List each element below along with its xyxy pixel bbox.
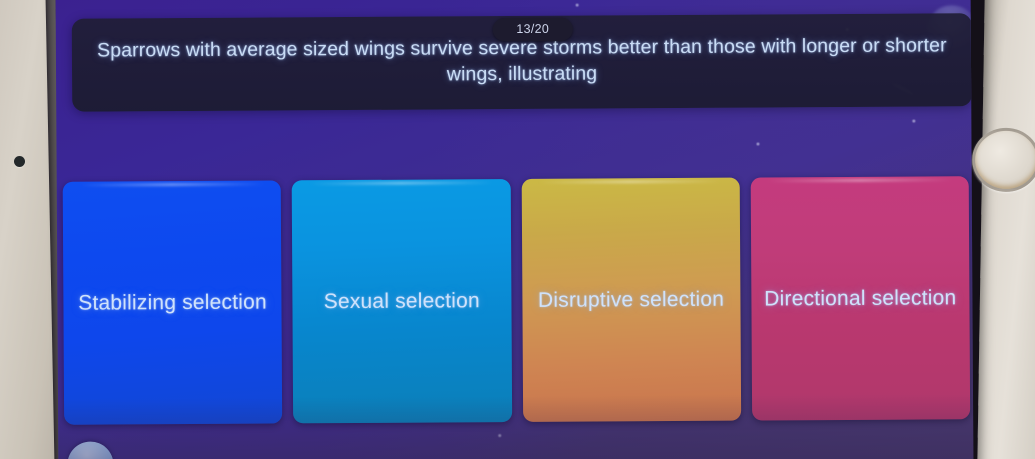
answer-disruptive-selection[interactable]: Disruptive selection bbox=[521, 178, 741, 422]
tablet-screen: Sparrows with average sized wings surviv… bbox=[56, 0, 974, 459]
question-text: Sparrows with average sized wings surviv… bbox=[93, 33, 951, 91]
front-camera-icon bbox=[14, 156, 25, 167]
dust-speck bbox=[912, 120, 915, 123]
answer-label: Directional selection bbox=[752, 283, 968, 314]
answer-label: Stabilizing selection bbox=[66, 287, 279, 318]
answer-directional-selection[interactable]: Directional selection bbox=[750, 176, 970, 420]
progress-indicator: 13/20 bbox=[493, 18, 573, 41]
dust-speck bbox=[756, 143, 759, 146]
home-button-icon[interactable] bbox=[972, 127, 1035, 192]
photo-of-tablet-screen: Sparrows with average sized wings surviv… bbox=[0, 0, 1035, 459]
answer-label: Sexual selection bbox=[312, 286, 492, 317]
quiz-app: Sparrows with average sized wings surviv… bbox=[56, 0, 974, 459]
dust-speck bbox=[576, 4, 579, 7]
device-bezel-right bbox=[977, 0, 1035, 459]
answer-sexual-selection[interactable]: Sexual selection bbox=[292, 179, 512, 423]
answer-label: Disruptive selection bbox=[526, 284, 736, 315]
floating-action-button[interactable] bbox=[67, 441, 113, 459]
dust-speck bbox=[498, 434, 501, 437]
answer-options: Stabilizing selection Sexual selection D… bbox=[63, 176, 970, 425]
answer-stabilizing-selection[interactable]: Stabilizing selection bbox=[63, 180, 283, 424]
